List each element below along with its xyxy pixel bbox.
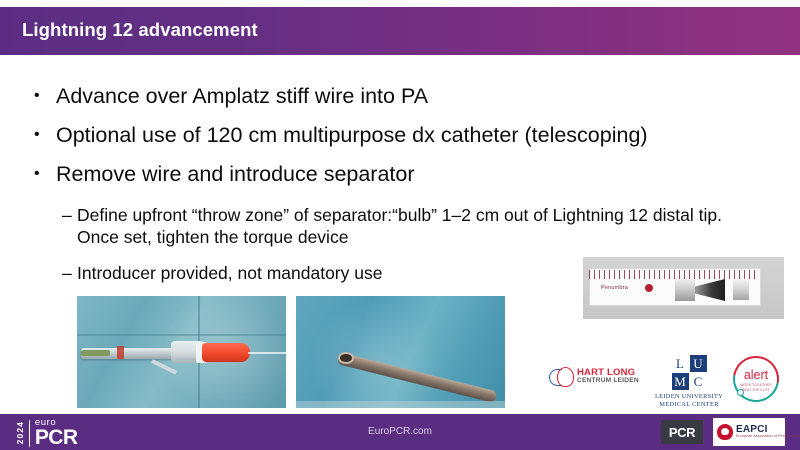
penumbra-logo-icon [645,284,653,292]
catheter-marker-band [117,346,124,359]
bullet-item: • Remove wire and introduce separator [34,162,415,187]
ruler-tick-marks [589,270,759,279]
lumc-letter-grid: L U M C [651,355,727,390]
eapci-text: EAPCI European Association of Percutaneo… [736,425,800,439]
lumc-letter-c: C [690,373,707,390]
alert-tagline: WORK TOGETHER BEAT THE CLOT [733,383,779,392]
penumbra-brand-label: Penumbra [601,285,628,291]
sub-bullet-marker: – [62,262,77,284]
hart-long-line2: CENTRUM LEIDEN [577,378,639,385]
penumbra-separator-ruler-photo: Penumbra [583,257,784,319]
lumc-letter-u: U [690,355,707,372]
separator-component-left [675,279,695,301]
partner-logos-bar: HART LONG CENTRUM LEIDEN L U M C LEIDEN … [541,352,787,406]
catheter-tube [336,352,497,403]
catheter-red-cap [202,343,250,362]
page-title: Lightning 12 advancement [22,19,258,41]
pcr-badge: PCR [661,420,703,444]
bullet-item: • Advance over Amplatz stiff wire into P… [34,84,428,109]
hart-long-text: HART LONG CENTRUM LEIDEN [577,368,639,385]
separator-component-right [733,280,749,300]
bullet-item: • Optional use of 120 cm multipurpose dx… [34,123,648,148]
heart-lung-icon [549,366,573,386]
sub-bullet-text: Define upfront “throw zone” of separator… [77,204,767,249]
lumc-subtitle-line1: LEIDEN UNIVERSITY [651,393,727,401]
slide: Lightning 12 advancement • Advance over … [0,0,800,450]
catheter-core [81,350,110,356]
photo-bottom-strip [296,401,505,408]
bullet-marker: • [34,84,56,107]
sub-bullet-text: Introducer provided, not mandatory use [77,262,382,284]
sub-bullet-marker: – [62,204,77,226]
eapci-logo: EAPCI European Association of Percutaneo… [713,418,785,446]
alert-wordmark: alert [733,369,779,382]
lumc-letter-l: L [672,355,689,372]
pcr-badge-text: PCR [669,425,695,440]
eapci-subtitle: European Association of Percutaneous Car… [736,435,800,439]
bullet-text: Optional use of 120 cm multipurpose dx c… [56,123,648,148]
sub-bullet-item: – Introducer provided, not mandatory use [62,262,382,284]
lumc-subtitle-line2: MEDICAL CENTER [651,401,727,409]
bullet-text: Advance over Amplatz stiff wire into PA [56,84,428,109]
sub-bullet-item: – Define upfront “throw zone” of separat… [62,204,767,249]
catheter-tail-wire [248,352,286,354]
heart-icon [717,424,733,440]
alert-logo: alert WORK TOGETHER BEAT THE CLOT [733,356,779,402]
alert-tagline-line2: BEAT THE CLOT [733,388,779,393]
bullet-marker: • [34,162,56,185]
catheter-assembly-photo [77,296,286,408]
catheter-lumen-opening [338,352,354,364]
lumc-logo: L U M C LEIDEN UNIVERSITY MEDICAL CENTER [651,355,727,409]
hart-long-centrum-leiden-logo: HART LONG CENTRUM LEIDEN [549,366,639,386]
heart-shape [557,367,574,387]
bullet-marker: • [34,123,56,146]
drape-seam-horizontal [77,334,286,336]
catheter-tip-photo [296,296,505,408]
lumc-letter-m: M [672,373,689,390]
bullet-text: Remove wire and introduce separator [56,162,415,187]
